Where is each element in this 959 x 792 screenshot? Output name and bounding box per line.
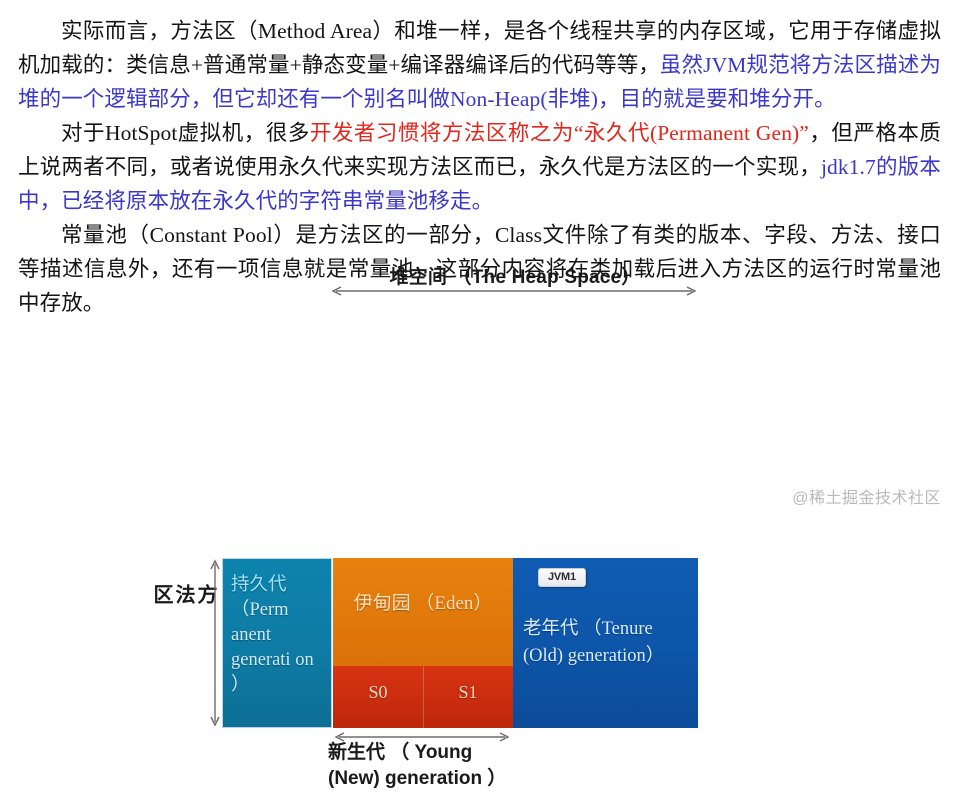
permanent-generation-block[interactable]: 持久代 （Perm anent generati on ）	[222, 558, 332, 728]
heap-span-arrow-icon	[330, 286, 698, 296]
heap-space-label: 堆空间 （The Heap Space）	[330, 262, 700, 289]
old-generation-label-line2: (Old) generation）	[523, 646, 664, 666]
paragraph-1: 实际而言，方法区（Method Area）和堆一样，是各个线程共享的内存区域，它…	[18, 14, 941, 116]
eden-label: 伊甸园 （Eden）	[333, 588, 513, 615]
young-generation-label: 新生代 （ Young (New) generation ）	[328, 740, 618, 792]
survivor-block[interactable]: S0 S1	[333, 666, 513, 728]
old-generation-block[interactable]: JVM1 老年代 （Tenure (Old) generation）	[513, 558, 698, 728]
paragraph-2-run-2-highlight: 开发者习惯将方法区称之为“永久代(Permanent Gen)”	[310, 121, 809, 145]
paragraph-2: 对于HotSpot虚拟机，很多开发者习惯将方法区称之为“永久代(Permanen…	[18, 116, 941, 218]
permanent-generation-text: 持久代 （Perm anent generati on ）	[231, 573, 325, 698]
watermark: @稀土掘金技术社区	[792, 484, 941, 508]
method-area-span-arrow-icon	[210, 558, 220, 728]
permanent-generation-label-en: （Perm anent generati on ）	[231, 600, 314, 695]
old-generation-text: 老年代 （Tenure (Old) generation）	[523, 616, 692, 670]
paragraph-2-run-1: 对于HotSpot虚拟机，很多	[61, 121, 310, 145]
jvm1-tag: JVM1	[538, 568, 586, 587]
survivor-s1-label: S1	[423, 682, 513, 703]
young-generation-label-line1: 新生代 （ Young	[328, 742, 472, 763]
old-generation-label-line1: 老年代 （Tenure	[523, 619, 653, 639]
young-generation-label-line2: (New) generation ）	[328, 768, 506, 789]
survivor-s0-label: S0	[333, 682, 423, 703]
eden-block[interactable]: 伊甸园 （Eden）	[333, 558, 513, 666]
permanent-generation-label-cn: 持久代	[231, 575, 287, 595]
